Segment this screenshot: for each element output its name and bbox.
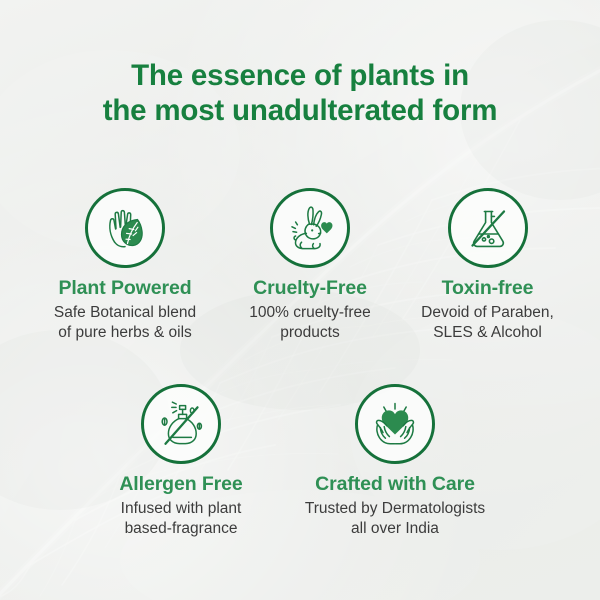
page-title-line-1: The essence of plants in	[0, 58, 600, 93]
feature-description-line-2: based-fragrance	[73, 519, 289, 539]
rabbit-heart-icon	[281, 201, 339, 255]
feature-crafted-with-care: Crafted with Care Trusted by Dermatologi…	[283, 384, 507, 539]
infographic-content: The essence of plants in the most unadul…	[0, 0, 600, 600]
feature-toxin-free: Toxin-free Devoid of Paraben, SLES & Alc…	[390, 188, 585, 343]
feature-title: Toxin-free	[390, 277, 585, 300]
heart-shape	[321, 222, 332, 233]
feature-title: Plant Powered	[15, 277, 235, 300]
feature-description-line-2: products	[205, 323, 415, 343]
feature-description-line-1: Infused with plant	[73, 499, 289, 519]
feature-description-line-2: of pure herbs & oils	[15, 323, 235, 343]
crossed-out-perfume-bottle-icon	[152, 397, 210, 451]
feature-icon-badge	[448, 188, 528, 268]
feature-icon-badge	[85, 188, 165, 268]
feature-allergen-free: Allergen Free Infused with plant based-f…	[73, 384, 289, 539]
feature-title: Crafted with Care	[283, 473, 507, 496]
feature-description: Infused with plant based-fragrance	[73, 499, 289, 539]
page-title-line-2: the most unadulterated form	[0, 93, 600, 128]
feature-plant-powered: Plant Powered Safe Botanical blend of pu…	[15, 188, 235, 343]
slash-line	[472, 212, 504, 246]
feature-description: Trusted by Dermatologists all over India	[283, 499, 507, 539]
feature-title: Cruelty-Free	[205, 277, 415, 300]
feature-description-line-1: Devoid of Paraben,	[390, 303, 585, 323]
feature-description-line-1: Trusted by Dermatologists	[283, 499, 507, 519]
feature-icon-badge	[270, 188, 350, 268]
hands-holding-heart-icon	[366, 397, 424, 451]
feature-description-line-2: all over India	[283, 519, 507, 539]
feature-description: Safe Botanical blend of pure herbs & oil…	[15, 303, 235, 343]
feature-description: 100% cruelty-free products	[205, 303, 415, 343]
feature-icon-badge	[355, 384, 435, 464]
feature-description-line-1: 100% cruelty-free	[205, 303, 415, 323]
feature-cruelty-free: Cruelty-Free 100% cruelty-free products	[205, 188, 415, 343]
feature-description-line-1: Safe Botanical blend	[15, 303, 235, 323]
crossed-out-flask-icon	[461, 201, 515, 255]
hand-holding-leaf-icon	[97, 200, 153, 256]
page-title: The essence of plants in the most unadul…	[0, 58, 600, 128]
feature-description-line-2: SLES & Alcohol	[390, 323, 585, 343]
feature-icon-badge	[141, 384, 221, 464]
feature-description: Devoid of Paraben, SLES & Alcohol	[390, 303, 585, 343]
feature-title: Allergen Free	[73, 473, 289, 496]
